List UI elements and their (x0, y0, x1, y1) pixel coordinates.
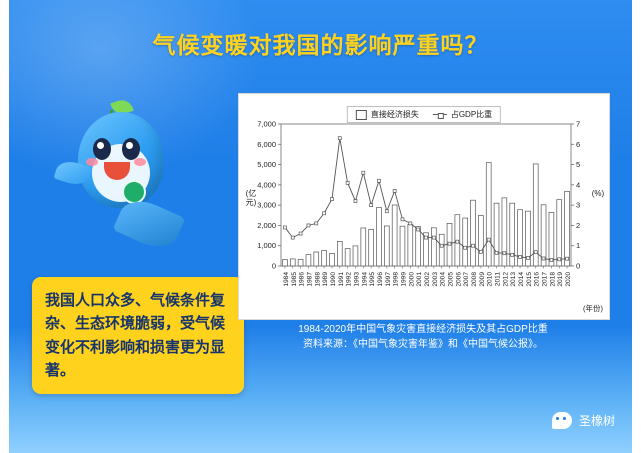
svg-text:2015: 2015 (526, 272, 533, 287)
chart-caption: 1984-2020年中国气象灾害直接经济损失及其占GDP比重 资料来源：《中国气… (238, 322, 608, 352)
svg-text:1986: 1986 (299, 272, 306, 287)
chart-card: 直接经济损失 占GDP比重 (亿元) (%) (年份) 001,00012,00… (238, 93, 610, 320)
mascot-eye-left (93, 138, 111, 160)
svg-text:1996: 1996 (377, 272, 384, 287)
svg-text:1993: 1993 (353, 272, 360, 287)
svg-text:7,000: 7,000 (257, 120, 276, 129)
svg-text:0: 0 (272, 262, 276, 271)
svg-text:5,000: 5,000 (257, 160, 276, 169)
svg-text:2003: 2003 (432, 272, 439, 287)
svg-text:7: 7 (576, 120, 580, 129)
svg-text:1984: 1984 (283, 272, 290, 287)
svg-text:2009: 2009 (479, 272, 486, 287)
svg-text:1999: 1999 (400, 272, 407, 287)
svg-text:2,000: 2,000 (257, 221, 276, 230)
photo-left-edge (0, 0, 9, 453)
chart-caption-line2: 资料来源：《中国气象灾害年鉴》和《中国气候公报》。 (238, 337, 608, 352)
svg-text:1998: 1998 (393, 272, 400, 287)
svg-text:2013: 2013 (510, 272, 517, 287)
chart-caption-line1: 1984-2020年中国气象灾害直接经济损失及其占GDP比重 (238, 322, 608, 337)
whale-mascot-icon (60, 92, 190, 252)
svg-text:2019: 2019 (557, 272, 564, 287)
chart-plot-area: 直接经济损失 占GDP比重 (亿元) (%) (年份) 001,00012,00… (239, 94, 609, 319)
svg-text:3: 3 (576, 201, 580, 210)
svg-text:1: 1 (576, 241, 580, 250)
svg-text:2001: 2001 (416, 272, 423, 287)
svg-text:2016: 2016 (534, 272, 541, 287)
page-title: 气候变暖对我国的影响严重吗？ (0, 26, 641, 60)
svg-text:2000: 2000 (408, 272, 415, 287)
svg-text:2007: 2007 (463, 272, 470, 287)
svg-text:2018: 2018 (549, 272, 556, 287)
wechat-account: 圣橡树 (552, 412, 615, 429)
mascot-badge-icon (122, 180, 146, 204)
svg-text:2014: 2014 (518, 272, 525, 287)
svg-text:6,000: 6,000 (257, 140, 276, 149)
svg-text:1995: 1995 (369, 272, 376, 287)
svg-text:6: 6 (576, 140, 580, 149)
svg-text:4,000: 4,000 (257, 180, 276, 189)
svg-text:0: 0 (576, 262, 580, 271)
svg-text:2004: 2004 (440, 272, 447, 287)
svg-text:2020: 2020 (565, 272, 572, 287)
svg-text:2: 2 (576, 221, 580, 230)
svg-text:2010: 2010 (487, 272, 494, 287)
svg-text:5: 5 (576, 160, 580, 169)
svg-text:1,000: 1,000 (257, 241, 276, 250)
svg-text:2002: 2002 (424, 272, 431, 287)
photo-right-edge (632, 0, 641, 453)
svg-text:2012: 2012 (502, 272, 509, 287)
svg-text:2008: 2008 (471, 272, 478, 287)
svg-text:2011: 2011 (495, 272, 502, 287)
wechat-account-name: 圣橡树 (579, 412, 615, 429)
svg-text:3,000: 3,000 (257, 201, 276, 210)
svg-text:1988: 1988 (314, 272, 321, 287)
mascot-blush-left (86, 158, 98, 166)
svg-text:4: 4 (576, 180, 580, 189)
svg-text:1989: 1989 (322, 272, 329, 287)
svg-text:1987: 1987 (306, 272, 313, 287)
svg-text:2006: 2006 (455, 272, 462, 287)
chart-svg: 001,00012,00023,00034,00045,00056,00067,… (239, 94, 609, 319)
mascot-eye-right (122, 138, 140, 160)
wechat-logo-icon (552, 412, 572, 429)
svg-text:2005: 2005 (448, 272, 455, 287)
svg-text:1991: 1991 (338, 272, 345, 287)
svg-text:1990: 1990 (330, 272, 337, 287)
mascot-blush-right (134, 158, 146, 166)
svg-text:2017: 2017 (542, 272, 549, 287)
svg-text:1997: 1997 (385, 272, 392, 287)
svg-text:1994: 1994 (361, 272, 368, 287)
slide-root: 气候变暖对我国的影响严重吗？ 我国人口众多、气候条件复杂、生态环境脆弱，受气候变… (0, 0, 641, 453)
caption-box: 我国人口众多、气候条件复杂、生态环境脆弱，受气候变化不利影响和损害更为显著。 (32, 277, 244, 394)
svg-text:1992: 1992 (346, 272, 353, 287)
svg-text:1985: 1985 (291, 272, 298, 287)
